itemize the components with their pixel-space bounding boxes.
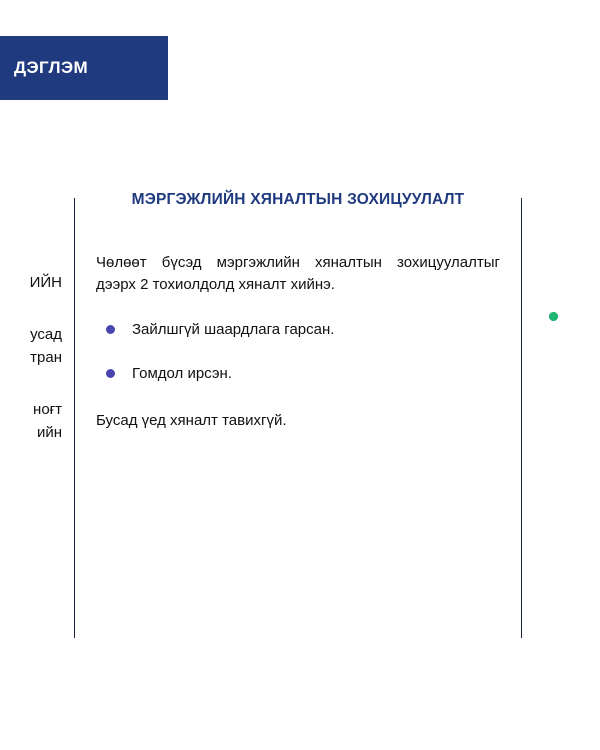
- list-item-label: Зайлшгүй шаардлага гарсан.: [132, 321, 334, 338]
- list-item-label: Гомдол ирсэн.: [132, 365, 232, 382]
- column-middle: МЭРГЭЖЛИЙН ХЯНАЛТЫН ЗОХИЦУУЛАЛТ Чөлөөт б…: [86, 190, 510, 433]
- column-divider-left: [74, 198, 75, 638]
- column-left-heading: ИЙН: [0, 190, 62, 210]
- bullet-dot-icon: [549, 312, 558, 321]
- column-middle-heading: МЭРГЭЖЛИЙН ХЯНАЛТЫН ЗОХИЦУУЛАЛТ: [96, 190, 500, 210]
- column-left: ИЙН ИЙН усад тран ноғт ийн: [0, 190, 68, 474]
- column-right: ХӨД: [533, 190, 600, 306]
- list-item: Гомдол ирсэн.: [96, 363, 500, 385]
- bullet-dot-icon: [106, 325, 115, 334]
- column-left-line: ИЙН: [0, 272, 62, 295]
- list-item: Зайлшгүй шаардлага гарсан.: [96, 319, 500, 341]
- page-title: ДЭГЛЭМ: [14, 58, 88, 78]
- slide-title-banner: ДЭГЛЭМ: [0, 36, 168, 100]
- column-middle-body: Чөлөөт бүсэд мэргэжлийн хяналтын зохицуу…: [96, 252, 500, 433]
- column-right-heading: ХӨД: [539, 190, 600, 210]
- column-middle-paragraph: Чөлөөт бүсэд мэргэжлийн хяналтын зохицуу…: [96, 252, 500, 297]
- column-left-line: ноғт ийн: [0, 399, 62, 444]
- column-left-body: ИЙН усад тран ноғт ийн: [0, 272, 62, 445]
- column-middle-closing-text: Бусад үед хяналт тавихгүй.: [96, 410, 500, 433]
- bullet-dot-icon: [106, 369, 115, 378]
- column-middle-bullet-list: Зайлшгүй шаардлага гарсан. Гомдол ирсэн.: [96, 319, 500, 385]
- content-columns: ИЙН ИЙН усад тран ноғт ийн МЭРГЭЖЛИЙН ХЯ…: [0, 190, 600, 650]
- column-left-line: усад тран: [0, 324, 62, 369]
- column-divider-right: [521, 198, 522, 638]
